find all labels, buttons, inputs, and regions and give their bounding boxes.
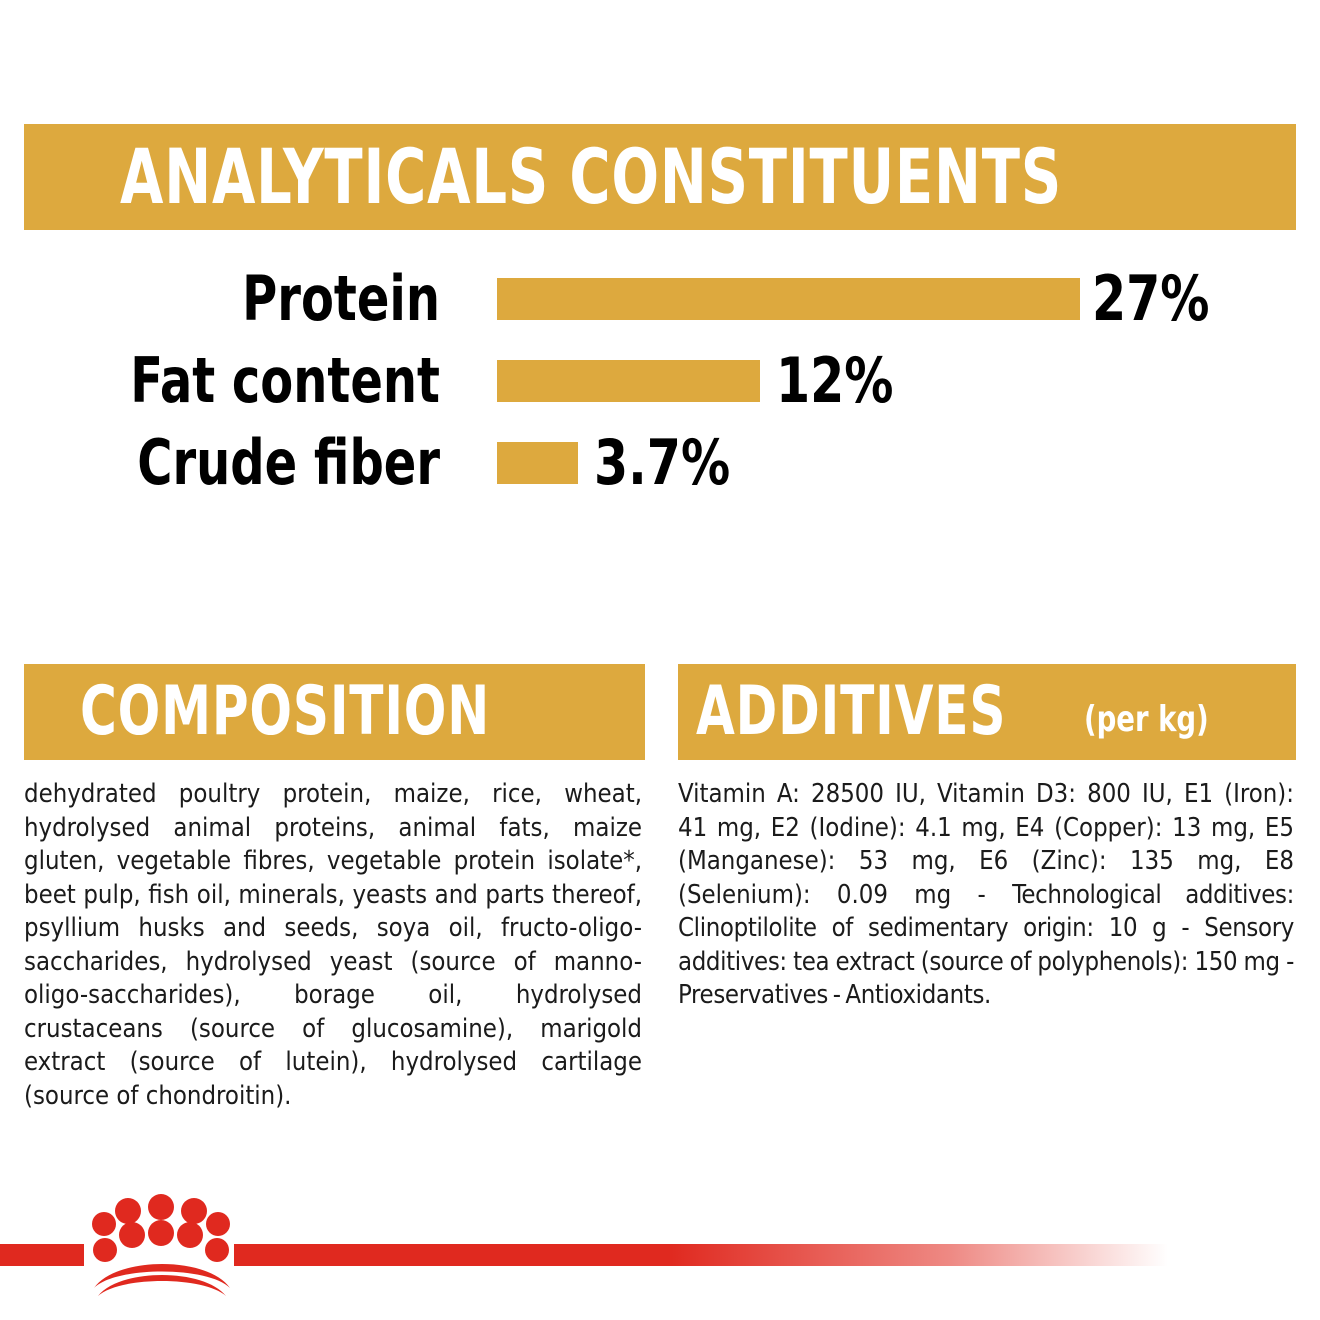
footer	[0, 1180, 1320, 1320]
composition-title: COMPOSITION	[80, 678, 490, 746]
chart-bar	[497, 442, 578, 484]
additives-subtitle: (per kg)	[1084, 702, 1209, 738]
composition-header-band: COMPOSITION	[24, 664, 645, 760]
royal-canin-crown-icon	[92, 1188, 232, 1298]
analyticals-header-band: ANALYTICALS CONSTITUENTS	[24, 124, 1296, 230]
chart-row: Fat content 12%	[0, 350, 1320, 412]
chart-value-label: 27%	[1092, 268, 1209, 330]
chart-category-label: Fat content	[27, 350, 440, 412]
chart-value-label: 3.7%	[594, 432, 730, 494]
additives-body-text: Vitamin A: 28500 IU, Vitamin D3: 800 IU,…	[678, 778, 1294, 1013]
additives-title: ADDITIVES	[696, 678, 1006, 746]
analyticals-bar-chart: Protein 27% Fat content 12% Crude fiber …	[0, 268, 1320, 504]
chart-category-label: Crude fiber	[27, 432, 440, 494]
chart-row: Crude fiber 3.7%	[0, 432, 1320, 494]
additives-header-band: ADDITIVES (per kg)	[678, 664, 1296, 760]
chart-category-label: Protein	[27, 268, 440, 330]
footer-rule-right	[234, 1244, 1320, 1266]
analyticals-title: ANALYTICALS CONSTITUENTS	[120, 139, 1062, 215]
chart-bar	[497, 278, 1080, 320]
chart-value-label: 12%	[776, 350, 893, 412]
composition-body-text: dehydrated poultry protein, maize, rice,…	[24, 778, 642, 1113]
footer-rule-left	[0, 1244, 84, 1266]
chart-row: Protein 27%	[0, 268, 1320, 330]
chart-bar	[497, 360, 760, 402]
